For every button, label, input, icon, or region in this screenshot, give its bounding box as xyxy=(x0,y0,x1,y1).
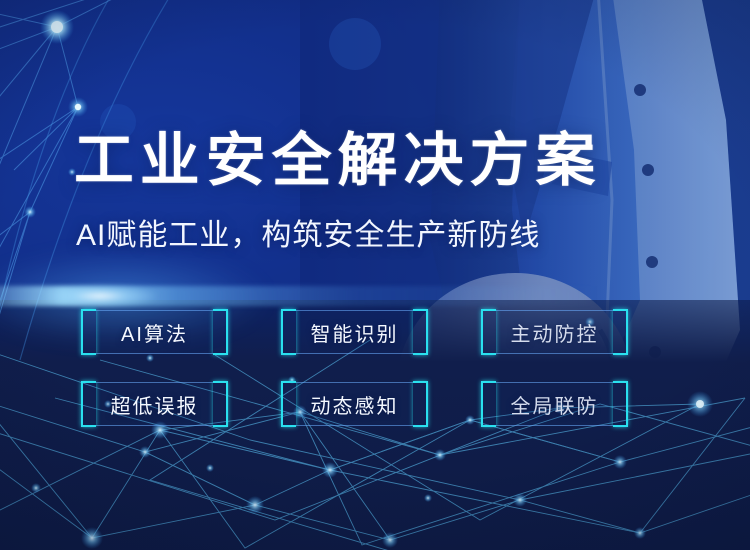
feature-tag-active-prevention[interactable]: 主动防控 xyxy=(482,310,627,354)
feature-tag-global-joint-defense[interactable]: 全局联防 xyxy=(482,382,627,426)
feature-tag-label: 主动防控 xyxy=(511,318,599,347)
feature-tag-label: 全局联防 xyxy=(511,390,599,419)
banner-title: 工业安全解决方案 xyxy=(74,132,601,190)
feature-tag-smart-recognition[interactable]: 智能识别 xyxy=(282,310,427,354)
feature-tag-label: AI算法 xyxy=(121,318,188,347)
feature-tag-ultra-low-false-alarm[interactable]: 超低误报 xyxy=(82,382,227,426)
banner-content: 工业安全解决方案 AI赋能工业，构筑安全生产新防线 AI算法 智能识别 主动防控… xyxy=(0,0,750,550)
feature-tag-label: 智能识别 xyxy=(311,318,399,347)
banner-subtitle: AI赋能工业，构筑安全生产新防线 xyxy=(76,221,540,251)
feature-tag-label: 动态感知 xyxy=(311,390,399,419)
feature-tag-label: 超低误报 xyxy=(111,390,199,419)
feature-tag-ai-algorithm[interactable]: AI算法 xyxy=(82,310,227,354)
feature-tag-grid: AI算法 智能识别 主动防控 超低误报 动态感知 全局联防 xyxy=(82,310,627,426)
hero-banner: 工业安全解决方案 AI赋能工业，构筑安全生产新防线 AI算法 智能识别 主动防控… xyxy=(0,0,750,550)
feature-tag-dynamic-sensing[interactable]: 动态感知 xyxy=(282,382,427,426)
